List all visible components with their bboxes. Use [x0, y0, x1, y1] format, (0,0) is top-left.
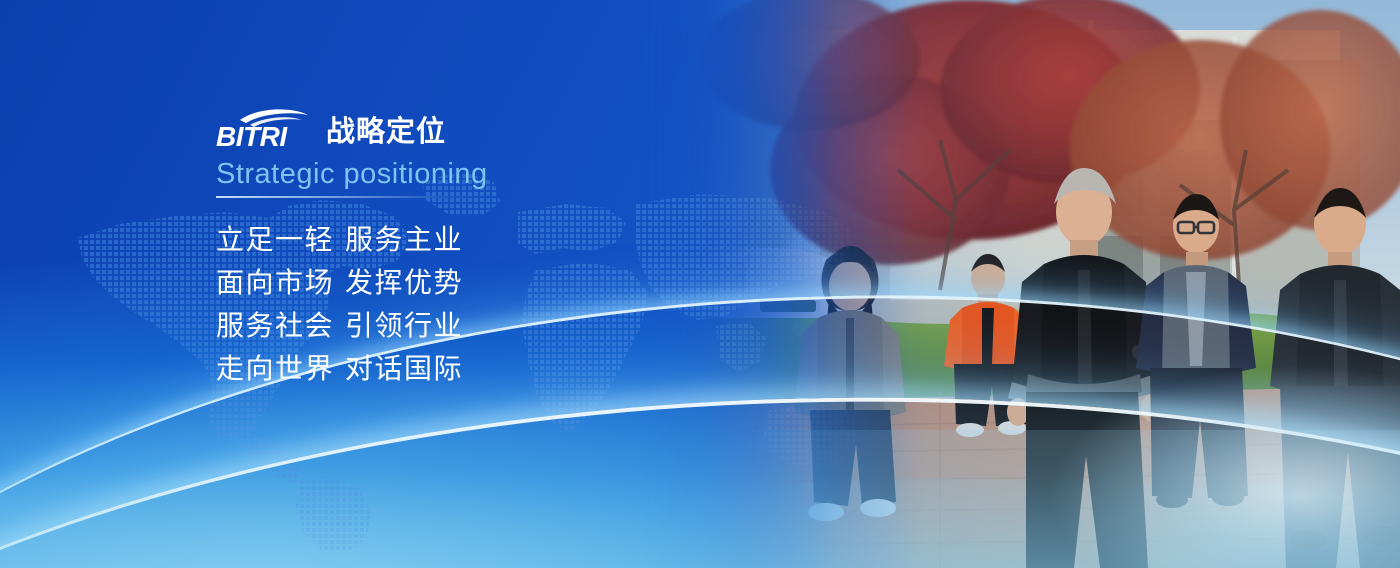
- banner-title-cn: 战略定位: [326, 118, 446, 150]
- slogan-list: 立足一轻 服务主业 面向市场 发挥优势 服务社会 引领行业 走向世界 对话国际: [216, 218, 646, 390]
- title-divider: [216, 196, 488, 198]
- slogan-row: 服务社会 引领行业: [216, 304, 646, 347]
- slogan-right: 发挥优势: [345, 261, 463, 304]
- campus-walk-photo: [640, 0, 1400, 568]
- slogan-row: 面向市场 发挥优势: [216, 261, 646, 304]
- slogan-left: 立足一轻: [216, 218, 345, 261]
- slogan-row: 走向世界 对话国际: [216, 347, 646, 390]
- strategic-positioning-banner: BITRI 战略定位 Strategic positioning 立足一轻 服务…: [0, 0, 1400, 568]
- banner-content: BITRI 战略定位 Strategic positioning 立足一轻 服务…: [216, 104, 646, 390]
- bitri-logo[interactable]: BITRI: [216, 106, 312, 150]
- banner-subtitle-en: Strategic positioning: [216, 159, 646, 191]
- slogan-right: 对话国际: [345, 347, 463, 390]
- slogan-right: 服务主业: [345, 218, 463, 261]
- slogan-right: 引领行业: [345, 304, 463, 347]
- slogan-row: 立足一轻 服务主业: [216, 218, 646, 261]
- slogan-left: 面向市场: [216, 261, 345, 304]
- slogan-left: 走向世界: [216, 347, 345, 390]
- title-row: BITRI 战略定位: [216, 104, 646, 150]
- bitri-wordmark: BITRI: [216, 121, 288, 150]
- slogan-left: 服务社会: [216, 304, 345, 347]
